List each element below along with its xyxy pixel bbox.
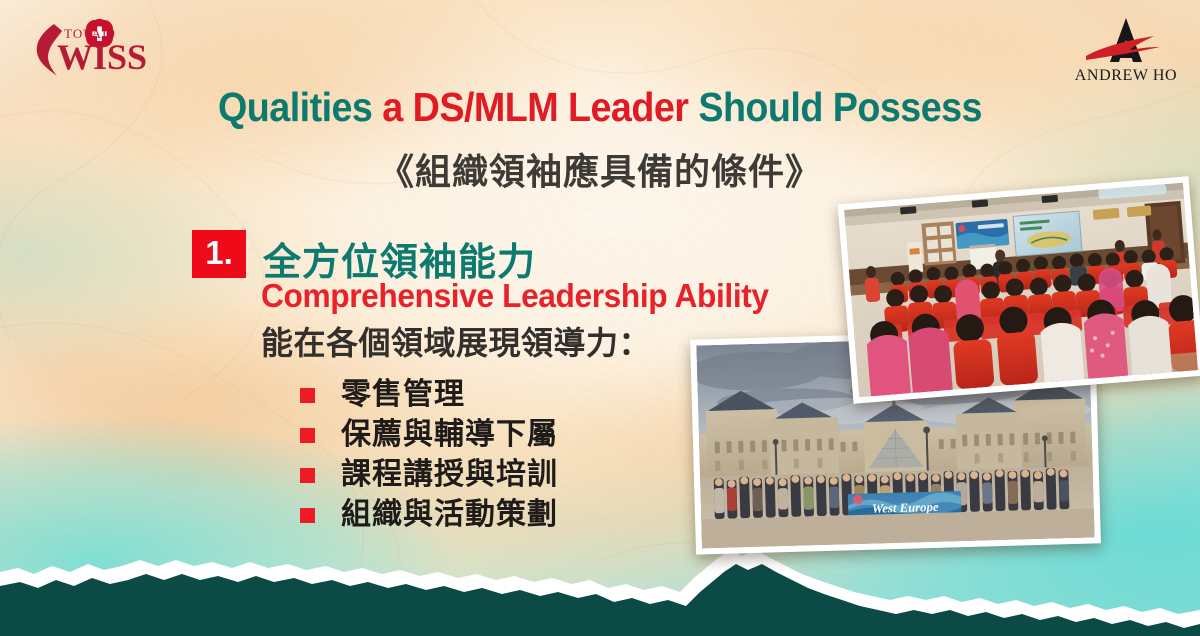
list-item: 保薦與輔導下屬 — [300, 416, 558, 454]
title-part-dsmlm: a DS/MLM Leader — [382, 84, 688, 130]
section-lead-chinese: 能在各個領域展現領導力： — [261, 318, 651, 364]
list-item: 零售管理 — [300, 376, 558, 414]
capability-list: 零售管理 保薦與輔導下屬 課程講授與培訓 組織與活動策劃 — [300, 376, 558, 536]
list-item: 課程講授與培訓 — [300, 456, 558, 494]
slide-canvas: TOTAL WISS ANDREW HO Qualities a DS/MLM … — [0, 0, 1200, 636]
square-bullet-icon — [300, 388, 315, 403]
page-title: Qualities a DS/MLM Leader Should Possess — [48, 86, 1152, 129]
andrew-ho-logo: ANDREW HO — [1068, 12, 1184, 84]
seminar-audience-photo — [838, 176, 1200, 404]
title-part-qualities: Qualities — [218, 84, 382, 130]
list-item-label: 零售管理 — [341, 380, 465, 410]
seminar-audience-image — [844, 183, 1198, 398]
page-subtitle-chinese: 《組織領袖應具備的條件》 — [0, 143, 1200, 195]
section-heading-english: Comprehensive Leadership Ability — [261, 277, 769, 315]
title-part-possess: Should Possess — [688, 84, 982, 130]
square-bullet-icon — [300, 428, 315, 443]
total-swiss-logo: TOTAL WISS — [24, 14, 156, 80]
square-bullet-icon — [300, 468, 315, 483]
andrew-ho-label: ANDREW HO — [1075, 67, 1177, 84]
logo-wiss-word: WISS — [57, 37, 147, 77]
list-item-label: 保薦與輔導下屬 — [341, 420, 558, 450]
list-item-label: 課程講授與培訓 — [341, 460, 558, 490]
section-number-badge: 1. — [192, 230, 246, 278]
photo-frame-inner — [844, 183, 1198, 398]
